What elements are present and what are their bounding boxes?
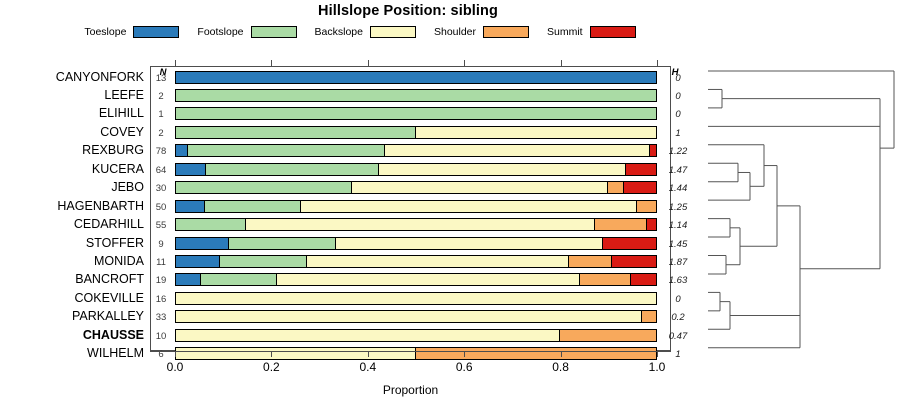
- row-label-rexburg: REXBURG: [2, 143, 144, 157]
- bar-segment-shoulder: [642, 311, 656, 322]
- legend-label: Shoulder: [434, 26, 476, 38]
- x-axis-tick-label: 0.4: [338, 360, 398, 374]
- bar-segment-summit: [626, 164, 656, 175]
- row-label-elihill: ELIHILL: [2, 106, 144, 120]
- x-axis-tick-label: 0.8: [531, 360, 591, 374]
- bar-segment-backslope: [416, 127, 656, 138]
- bar-segment-toeslope: [176, 164, 206, 175]
- stacked-bar-covey: [175, 126, 657, 139]
- stacked-bar-jebo: [175, 181, 657, 194]
- bar-segment-summit: [631, 274, 656, 285]
- bar-segment-backslope: [277, 274, 580, 285]
- bar-segment-shoulder: [560, 330, 656, 341]
- x-axis-tick: [464, 351, 465, 357]
- bar-segment-backslope: [352, 182, 608, 193]
- x-axis-top-tick: [657, 60, 658, 66]
- bar-segment-footslope: [188, 145, 385, 156]
- bar-segment-footslope: [176, 219, 246, 230]
- bar-segment-summit: [650, 145, 656, 156]
- dendrogram: [684, 60, 900, 352]
- stacked-bar-leefe: [175, 89, 657, 102]
- x-axis-line: [150, 351, 671, 352]
- legend-item-toeslope: Toeslope: [84, 26, 179, 38]
- row-label-parkalley: PARKALLEY: [2, 309, 144, 323]
- legend-swatch-footslope: [251, 26, 297, 38]
- chart-root: Hillslope Position: sibling ToeslopeFoot…: [0, 0, 900, 420]
- row-n-value: 30: [149, 183, 173, 194]
- legend-swatch-backslope: [370, 26, 416, 38]
- stacked-bar-wilhelm: [175, 347, 657, 360]
- row-n-value: 50: [149, 202, 173, 213]
- x-axis-tick-label: 0.6: [434, 360, 494, 374]
- x-axis-tick: [368, 351, 369, 357]
- chart-title-text: Hillslope Position: sibling: [318, 3, 498, 19]
- bar-segment-backslope: [176, 311, 642, 322]
- row-n-value: 13: [149, 73, 173, 84]
- row-n-value: 1: [149, 109, 173, 120]
- stacked-bar-bancroft: [175, 273, 657, 286]
- row-label-chausse: CHAUSSE: [2, 328, 144, 342]
- legend-swatch-summit: [590, 26, 636, 38]
- bar-segment-footslope: [176, 90, 656, 101]
- bar-segment-backslope: [176, 293, 656, 304]
- legend-label: Footslope: [197, 26, 243, 38]
- x-axis-tick: [561, 351, 562, 357]
- row-n-value: 33: [149, 312, 173, 323]
- bar-segment-footslope: [206, 164, 378, 175]
- bar-segment-toeslope: [176, 274, 201, 285]
- bar-segment-footslope: [201, 274, 277, 285]
- bar-segment-toeslope: [176, 145, 188, 156]
- bar-segment-backslope: [385, 145, 649, 156]
- stacked-bar-cedarhill: [175, 218, 657, 231]
- bar-segment-toeslope: [176, 256, 220, 267]
- stacked-bar-monida: [175, 255, 657, 268]
- bar-segment-summit: [624, 182, 656, 193]
- bar-segment-summit: [647, 219, 656, 230]
- row-n-value: 11: [149, 257, 173, 268]
- legend-label: Summit: [547, 26, 583, 38]
- stacked-bar-kucera: [175, 163, 657, 176]
- row-n-value: 10: [149, 331, 173, 342]
- stacked-bar-parkalley: [175, 310, 657, 323]
- chart-legend: ToeslopeFootslopeBackslopeShoulderSummit: [0, 26, 720, 38]
- row-n-value: 9: [149, 239, 173, 250]
- bar-segment-toeslope: [176, 238, 229, 249]
- row-n-value: 64: [149, 165, 173, 176]
- legend-item-footslope: Footslope: [197, 26, 296, 38]
- legend-swatch-toeslope: [133, 26, 179, 38]
- x-axis-tick-label: 0.2: [241, 360, 301, 374]
- stacked-bar-rexburg: [175, 144, 657, 157]
- bar-segment-backslope: [336, 238, 603, 249]
- bar-segment-toeslope: [176, 201, 205, 212]
- row-label-cedarhill: CEDARHILL: [2, 217, 144, 231]
- stacked-bar-elihill: [175, 107, 657, 120]
- x-axis-top-tick: [561, 60, 562, 66]
- bar-segment-backslope: [246, 219, 595, 230]
- bar-segment-shoulder: [569, 256, 613, 267]
- legend-swatch-shoulder: [483, 26, 529, 38]
- bar-segment-backslope: [379, 164, 627, 175]
- page-title: Hillslope Position: sibling: [0, 3, 900, 19]
- bar-segment-footslope: [220, 256, 307, 267]
- bar-segment-footslope: [176, 127, 416, 138]
- legend-label: Backslope: [315, 26, 363, 38]
- row-label-cokeville: COKEVILLE: [2, 291, 144, 305]
- row-label-covey: COVEY: [2, 125, 144, 139]
- bar-segment-footslope: [205, 201, 301, 212]
- legend-item-summit: Summit: [547, 26, 636, 38]
- x-axis-tick: [271, 351, 272, 357]
- row-label-stoffer: STOFFER: [2, 236, 144, 250]
- legend-item-backslope: Backslope: [315, 26, 416, 38]
- row-label-canyonfork: CANYONFORK: [2, 70, 144, 84]
- row-n-value: 55: [149, 220, 173, 231]
- bar-segment-footslope: [176, 108, 656, 119]
- bar-segment-shoulder: [580, 274, 630, 285]
- bar-segment-backslope: [301, 201, 637, 212]
- bar-segment-shoulder: [416, 348, 656, 359]
- bar-segment-backslope: [176, 348, 416, 359]
- row-label-monida: MONIDA: [2, 254, 144, 268]
- stacked-bar-stoffer: [175, 237, 657, 250]
- x-axis-tick: [175, 351, 176, 357]
- bar-segment-backslope: [176, 330, 560, 341]
- x-axis-top-tick: [464, 60, 465, 66]
- bar-segment-footslope: [229, 238, 336, 249]
- x-axis-label: Proportion: [150, 383, 671, 397]
- legend-item-shoulder: Shoulder: [434, 26, 529, 38]
- row-label-leefe: LEEFE: [2, 88, 144, 102]
- stacked-bar-hagenbarth: [175, 200, 657, 213]
- x-axis-top-tick: [368, 60, 369, 66]
- row-label-kucera: KUCERA: [2, 162, 144, 176]
- bar-segment-summit: [603, 238, 656, 249]
- row-n-value: 2: [149, 91, 173, 102]
- row-n-value: 2: [149, 128, 173, 139]
- row-label-jebo: JEBO: [2, 180, 144, 194]
- legend-label: Toeslope: [84, 26, 126, 38]
- x-axis-top-tick: [271, 60, 272, 66]
- row-n-value: 19: [149, 275, 173, 286]
- row-label-wilhelm: WILHELM: [2, 346, 144, 360]
- bar-segment-toeslope: [176, 72, 656, 83]
- x-axis-top-tick: [175, 60, 176, 66]
- bar-segment-summit: [612, 256, 656, 267]
- x-axis-tick-label: 1.0: [627, 360, 687, 374]
- x-axis-tick-label: 0.0: [145, 360, 205, 374]
- row-n-value: 78: [149, 146, 173, 157]
- bar-segment-shoulder: [595, 219, 647, 230]
- x-axis-tick: [657, 351, 658, 357]
- bar-segment-footslope: [176, 182, 352, 193]
- bar-segment-shoulder: [608, 182, 624, 193]
- row-label-bancroft: BANCROFT: [2, 272, 144, 286]
- bar-segment-backslope: [307, 256, 569, 267]
- bar-segment-shoulder: [637, 201, 656, 212]
- stacked-bar-chausse: [175, 329, 657, 342]
- stacked-bar-canyonfork: [175, 71, 657, 84]
- row-n-value: 16: [149, 294, 173, 305]
- stacked-bar-cokeville: [175, 292, 657, 305]
- row-label-hagenbarth: HAGENBARTH: [2, 199, 144, 213]
